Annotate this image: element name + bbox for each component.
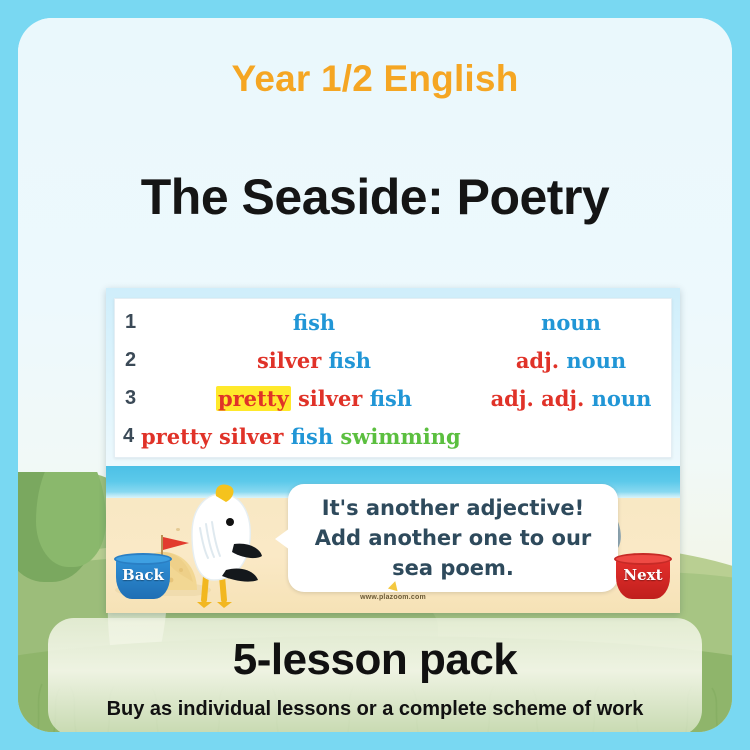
phrase-word-highlighted: pretty	[216, 386, 291, 411]
class-label: noun	[592, 386, 652, 411]
phrase-word: fish	[293, 310, 335, 335]
word-class-table: 1 fish noun 2 silver fish adj.	[114, 298, 672, 458]
row-phrase: silver fish	[149, 348, 479, 373]
row-number: 4	[115, 425, 141, 448]
bubble-line-3: sea poem.	[392, 553, 514, 583]
seagull-icon	[164, 484, 274, 612]
year-subject-label: Year 1/2 English	[18, 58, 732, 100]
watermark-url: www.plazoom.com	[106, 594, 680, 601]
phrase-word: pretty	[141, 424, 212, 449]
row-number: 2	[115, 349, 149, 372]
inner-card: Year 1/2 English The Seaside: Poetry 1 f…	[18, 18, 732, 732]
bucket-rim	[114, 553, 172, 565]
phrase-word: silver	[257, 348, 321, 373]
class-label: adj.	[516, 348, 559, 373]
class-label: adj.	[491, 386, 534, 411]
speech-bubble: It's another adjective! Add another one …	[288, 484, 618, 592]
back-button[interactable]: Back	[116, 553, 170, 599]
page-title: The Seaside: Poetry	[18, 168, 732, 226]
row-number: 3	[115, 387, 149, 410]
bubble-line-1: It's another adjective!	[322, 493, 584, 523]
row-phrase: pretty silver fish	[149, 386, 479, 411]
bubble-line-2: Add another one to our	[315, 523, 592, 553]
tree-icon	[36, 472, 106, 567]
phrase-word: fish	[329, 348, 371, 373]
lesson-slide-preview[interactable]: 1 fish noun 2 silver fish adj.	[106, 288, 680, 613]
row-word-classes: adj. adj. noun	[479, 386, 671, 411]
phrase-word: silver	[219, 424, 283, 449]
class-label: noun	[566, 348, 626, 373]
class-label: adj.	[541, 386, 584, 411]
table-row: 3 pretty silver fish adj. adj. noun	[115, 379, 671, 417]
table-row: 4 pretty silver fish swimming	[115, 417, 671, 455]
next-button[interactable]: Next	[616, 553, 670, 599]
phrase-word: silver	[298, 386, 362, 411]
speech-bubble-tail	[275, 528, 290, 550]
phrase-word: swimming	[340, 424, 460, 449]
back-button-label: Back	[116, 566, 170, 584]
row-phrase: fish	[149, 310, 479, 335]
table-row: 1 fish noun	[115, 303, 671, 341]
promo-card-root: Year 1/2 English The Seaside: Poetry 1 f…	[0, 0, 750, 750]
row-number: 1	[115, 311, 149, 334]
pack-title: 5-lesson pack	[18, 635, 732, 685]
class-label: noun	[541, 310, 601, 335]
row-phrase: pretty silver fish swimming	[141, 424, 461, 449]
table-row: 2 silver fish adj. noun	[115, 341, 671, 379]
row-word-classes: adj. noun	[479, 348, 671, 373]
pack-subtitle: Buy as individual lessons or a complete …	[18, 698, 732, 721]
next-button-label: Next	[616, 566, 670, 584]
phrase-word: fish	[291, 424, 333, 449]
row-word-classes: noun	[479, 310, 671, 335]
bucket-rim	[614, 553, 672, 565]
phrase-word: fish	[370, 386, 412, 411]
